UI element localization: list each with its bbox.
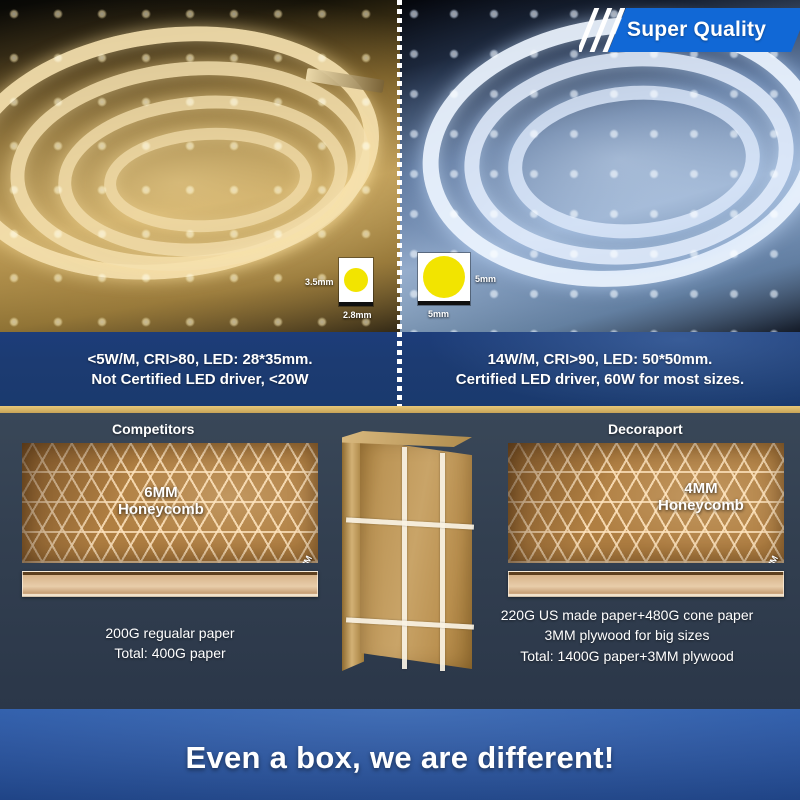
- honeycomb-edge-label-competitor: 6MM: [296, 554, 314, 563]
- honeycomb-name-line: Honeycomb: [118, 502, 204, 519]
- honeycomb-label-competitor: 6MM Honeycomb: [118, 485, 204, 519]
- badge-body: Super Quality: [608, 8, 800, 52]
- led-emitter-icon: [423, 256, 465, 298]
- spec-competitor: <5W/M, CRI>80, LED: 28*35mm. Not Certifi…: [0, 332, 400, 406]
- vertical-dotted-divider: [397, 0, 402, 332]
- led-chip-diagram: [418, 253, 470, 305]
- footer-banner: Even a box, we are different!: [0, 709, 800, 800]
- super-quality-badge: Super Quality: [579, 8, 800, 52]
- honeycomb-edge-label-decoraport: 4MM: [762, 554, 780, 563]
- footer-tagline: Even a box, we are different!: [185, 740, 614, 776]
- cardboard-cross-section-decoraport: [508, 571, 784, 597]
- spec-line-2: Certified LED driver, 60W for most sizes…: [456, 371, 744, 388]
- carton-front-panel: [360, 439, 472, 669]
- caption-line-1: 200G regualar paper: [22, 623, 318, 643]
- honeycomb-size-line: 6MM: [118, 485, 204, 502]
- spec-line-1: 14W/M, CRI>90, LED: 50*50mm.: [488, 351, 713, 368]
- honeycomb-panel-competitor: 6MM Honeycomb 6MM: [22, 443, 318, 563]
- carton-strap-vertical: [440, 453, 445, 671]
- led-chip-callout-decoraport: 5mm 5mm: [418, 253, 496, 305]
- caption-competitor: 200G regualar paper Total: 400G paper: [22, 623, 318, 664]
- caption-line-2: Total: 400G paper: [22, 643, 318, 663]
- chip-height-label: 3.5mm: [305, 277, 334, 287]
- promo-infographic: Super Quality 3.5mm 2.8mm 5mm 5mm <5W/M,…: [0, 0, 800, 800]
- honeycomb-name-line: Honeycomb: [658, 498, 744, 515]
- carton-strap-vertical: [402, 447, 407, 669]
- led-chip-callout-competitor: 3.5mm 2.8mm: [305, 258, 373, 306]
- honeycomb-size-line: 4MM: [658, 481, 744, 498]
- vertical-dotted-divider: [397, 332, 402, 406]
- cardboard-cross-section-competitor: [22, 571, 318, 597]
- honeycomb-label-decoraport: 4MM Honeycomb: [658, 481, 744, 515]
- honeycomb-panel-decoraport: 4MM Honeycomb 4MM: [508, 443, 784, 563]
- spec-line-1: <5W/M, CRI>80, LED: 28*35mm.: [87, 351, 312, 368]
- caption-decoraport: 220G US made paper+480G cone paper 3MM p…: [462, 605, 792, 666]
- chip-width-label: 2.8mm: [343, 310, 372, 320]
- spec-band-row: <5W/M, CRI>80, LED: 28*35mm. Not Certifi…: [0, 332, 800, 406]
- cardboard-carton-illustration: [336, 425, 488, 675]
- product-photo-row: Super Quality 3.5mm 2.8mm 5mm 5mm: [0, 0, 800, 332]
- led-chip-diagram: [339, 258, 373, 306]
- gold-divider-rule: [0, 406, 800, 413]
- column-title-decoraport: Decoraport: [608, 421, 683, 437]
- chip-width-label: 5mm: [428, 309, 449, 319]
- spec-line-2: Not Certified LED driver, <20W: [91, 371, 308, 388]
- chip-height-label: 5mm: [475, 274, 496, 284]
- caption-line-1: 220G US made paper+480G cone paper: [462, 605, 792, 625]
- caption-line-2: 3MM plywood for big sizes: [462, 625, 792, 645]
- led-emitter-icon: [344, 268, 368, 292]
- column-title-competitors: Competitors: [112, 421, 194, 437]
- spec-decoraport: 14W/M, CRI>90, LED: 50*50mm. Certified L…: [400, 332, 800, 406]
- packaging-comparison-section: Competitors Decoraport 6MM Honeycomb 6MM…: [0, 413, 800, 709]
- badge-label: Super Quality: [627, 18, 766, 42]
- caption-line-3: Total: 1400G paper+3MM plywood: [462, 646, 792, 666]
